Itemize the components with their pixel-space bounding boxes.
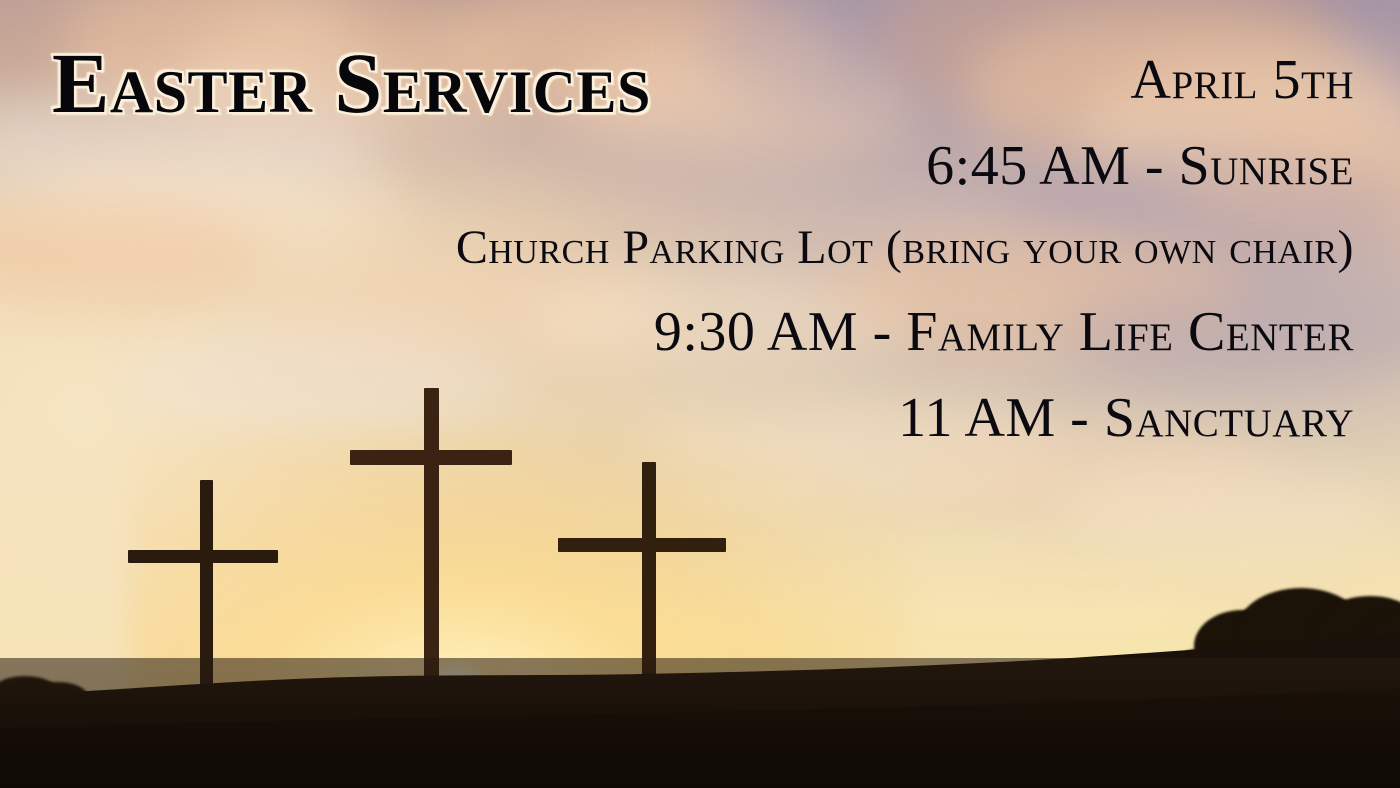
service-date: April 5th	[64, 52, 1354, 108]
service-930-time: 9:30 AM - Family Life Center	[64, 304, 1354, 360]
service-11am-time: 11 AM - Sanctuary	[64, 390, 1354, 446]
easter-services-graphic: Easter Services April 5th 6:45 AM - Sunr…	[0, 0, 1400, 788]
service-sunrise-location: Church Parking Lot (bring your own chair…	[64, 224, 1354, 272]
foreground-field	[0, 578, 1400, 788]
service-sunrise-time: 6:45 AM - Sunrise	[64, 138, 1354, 194]
service-details: April 5th 6:45 AM - Sunrise Church Parki…	[64, 52, 1354, 446]
